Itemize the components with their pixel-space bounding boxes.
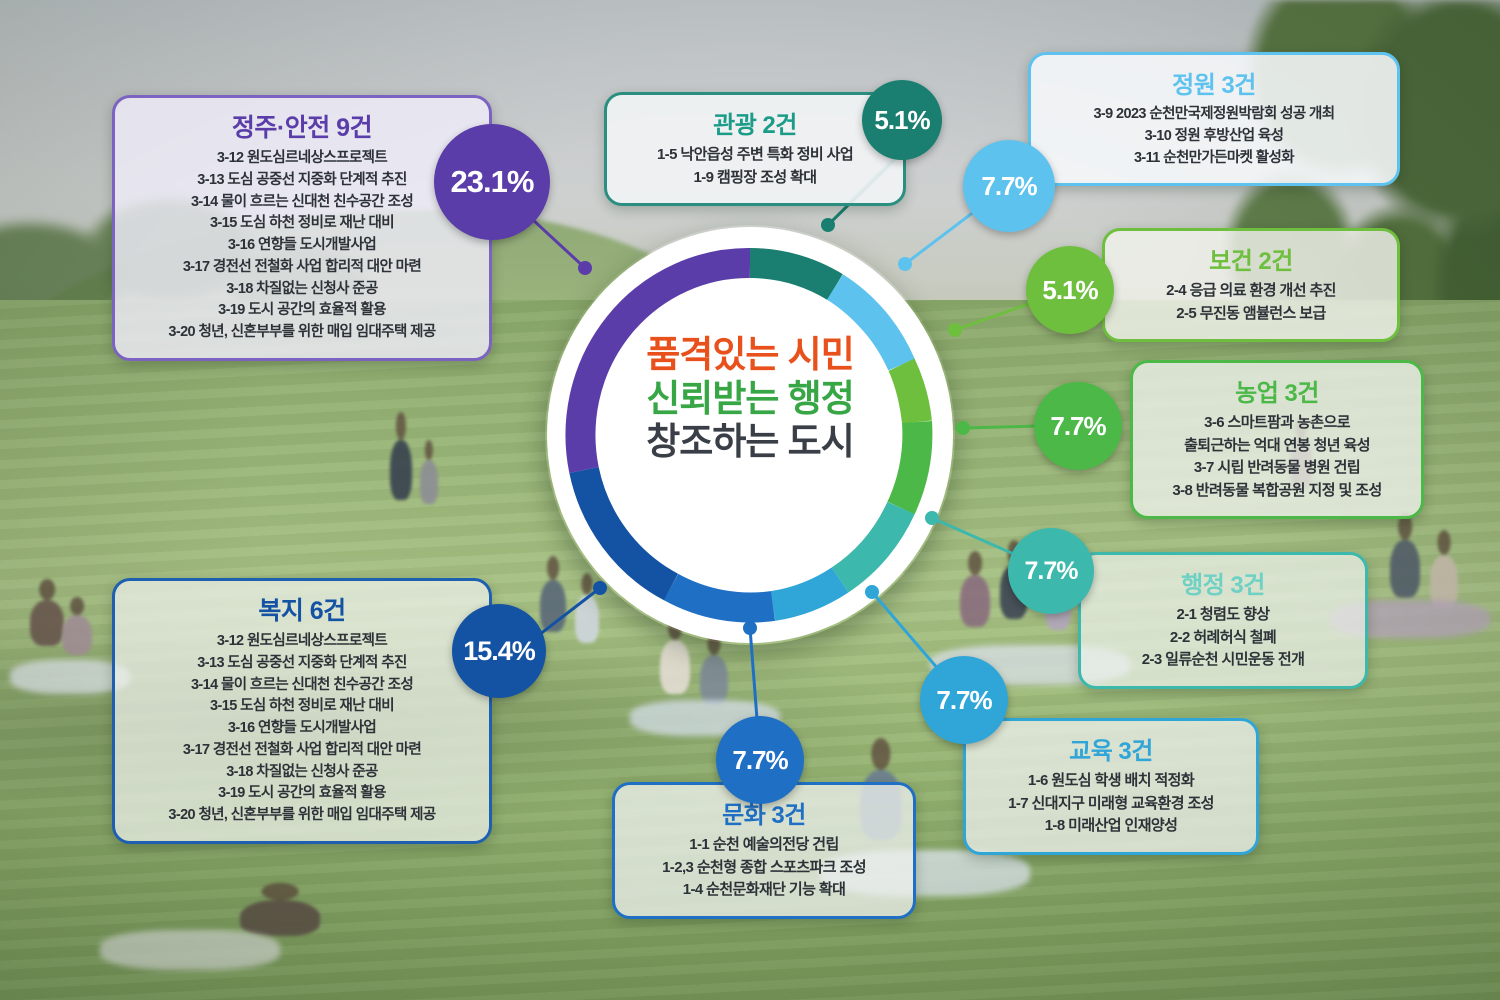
card-title-tourism: 관광 2건 [621, 105, 889, 140]
central-donut-chart: 품격있는 시민 신뢰받는 행정 창조하는 도시 S U N C H E O N … [545, 225, 955, 645]
card-item: 3-15 도심 하천 정비로 재난 대비 [129, 696, 475, 718]
percent-bubble-health[interactable]: 5.1% [1026, 246, 1114, 334]
card-garden[interactable]: 정원 3건 3-9 2023 순천만국제정원박람회 성공 개최 3-10 정원 … [1028, 52, 1400, 186]
card-item: 3-12 원도심르네상스프로젝트 [129, 148, 475, 170]
city-slogan: 품격있는 시민 신뢰받는 행정 창조하는 도시 [545, 333, 955, 464]
card-health[interactable]: 보건 2건 2-4 응급 의료 환경 개선 추진 2-5 무진동 앰뷸런스 보급 [1102, 228, 1400, 342]
slogan-line-2: 신뢰받는 행정 [545, 377, 955, 421]
card-item: 2-5 무진동 앰뷸런스 보급 [1119, 303, 1383, 326]
card-item: 3-12 원도심르네상스프로젝트 [129, 631, 475, 653]
card-item: 2-4 응급 의료 환경 개선 추진 [1119, 280, 1383, 303]
card-welfare[interactable]: 복지 6건 3-12 원도심르네상스프로젝트 3-13 도심 공중선 지중화 단… [112, 578, 492, 844]
card-item: 3-11 순천만가든마켓 활성화 [1045, 148, 1383, 170]
card-item: 2-1 청렴도 향상 [1095, 604, 1351, 627]
card-item: 3-13 도심 공중선 지중화 단계적 추진 [129, 170, 475, 192]
card-item: 3-18 차질없는 신청사 준공 [129, 279, 475, 301]
card-item: 3-17 경전선 전철화 사업 합리적 대안 마련 [129, 257, 475, 279]
card-title-agriculture: 농업 3건 [1147, 373, 1407, 408]
percent-bubble-agriculture[interactable]: 7.7% [1034, 382, 1122, 470]
card-item: 3-10 정원 후방산업 육성 [1045, 126, 1383, 148]
slogan-line-1: 품격있는 시민 [545, 333, 955, 377]
percent-bubble-residence-safety[interactable]: 23.1% [434, 124, 550, 240]
card-item: 3-15 도심 하천 정비로 재난 대비 [129, 213, 475, 235]
card-item: 3-6 스마트팜과 농촌으로 [1147, 412, 1407, 435]
card-item: 2-2 허례허식 철폐 [1095, 627, 1351, 650]
card-administration[interactable]: 행정 3건 2-1 청렴도 향상 2-2 허례허식 철폐 2-3 일류순천 시민… [1078, 552, 1368, 689]
card-item: 3-14 물이 흐르는 신대천 친수공간 조성 [129, 192, 475, 214]
card-item: 1-6 원도심 학생 배치 적정화 [980, 770, 1242, 793]
infographic-canvas: 품격있는 시민 신뢰받는 행정 창조하는 도시 S U N C H E O N … [0, 0, 1500, 1000]
card-item: 1-2,3 순천형 종합 스포츠파크 조성 [629, 857, 899, 880]
card-item: 3-7 시립 반려동물 병원 건립 [1147, 457, 1407, 480]
card-item: 3-18 차질없는 신청사 준공 [129, 762, 475, 784]
card-item: 3-9 2023 순천만국제정원박람회 성공 개최 [1045, 104, 1383, 126]
card-item: 2-3 일류순천 시민운동 전개 [1095, 649, 1351, 672]
card-item: 3-8 반려동물 복합공원 지정 및 조성 [1147, 480, 1407, 503]
card-title-administration: 행정 3건 [1095, 565, 1351, 600]
card-item: 3-16 연향들 도시개발사업 [129, 235, 475, 257]
card-title-garden: 정원 3건 [1045, 65, 1383, 100]
percent-bubble-tourism[interactable]: 5.1% [862, 80, 942, 160]
percent-bubble-welfare[interactable]: 15.4% [452, 604, 546, 698]
percent-bubble-administration[interactable]: 7.7% [1008, 528, 1094, 614]
card-item: 3-14 물이 흐르는 신대천 친수공간 조성 [129, 675, 475, 697]
card-item: 3-17 경전선 전철화 사업 합리적 대안 마련 [129, 740, 475, 762]
percent-bubble-garden[interactable]: 7.7% [963, 140, 1055, 232]
card-residence-safety[interactable]: 정주·안전 9건 3-12 원도심르네상스프로젝트 3-13 도심 공중선 지중… [112, 95, 492, 361]
card-education[interactable]: 교육 3건 1-6 원도심 학생 배치 적정화 1-7 신대지구 미래형 교육환… [963, 718, 1259, 855]
card-item: 1-1 순천 예술의전당 건립 [629, 834, 899, 857]
card-agriculture[interactable]: 농업 3건 3-6 스마트팜과 농촌으로 출퇴근하는 억대 연봉 청년 육성 3… [1130, 360, 1424, 519]
card-item: 3-13 도심 공중선 지중화 단계적 추진 [129, 653, 475, 675]
card-item: 출퇴근하는 억대 연봉 청년 육성 [1147, 435, 1407, 458]
percent-bubble-education[interactable]: 7.7% [920, 656, 1008, 744]
card-title-residence-safety: 정주·안전 9건 [129, 108, 475, 144]
card-title-health: 보건 2건 [1119, 241, 1383, 276]
card-title-welfare: 복지 6건 [129, 591, 475, 627]
card-item: 1-4 순천문화재단 기능 확대 [629, 879, 899, 902]
card-item: 3-19 도시 공간의 효율적 활용 [129, 300, 475, 322]
percent-bubble-culture[interactable]: 7.7% [716, 716, 804, 804]
card-item: 3-16 연향들 도시개발사업 [129, 718, 475, 740]
card-item: 3-20 청년, 신혼부부를 위한 매입 임대주택 제공 [129, 805, 475, 827]
card-item: 3-20 청년, 신혼부부를 위한 매입 임대주택 제공 [129, 322, 475, 344]
card-tourism[interactable]: 관광 2건 1-5 낙안읍성 주변 특화 정비 사업 1-9 캠핑장 조성 확대 [604, 92, 906, 206]
slogan-line-3: 창조하는 도시 [545, 420, 955, 464]
card-item: 1-8 미래산업 인재양성 [980, 815, 1242, 838]
card-item: 1-5 낙안읍성 주변 특화 정비 사업 [621, 144, 889, 167]
card-item: 3-19 도시 공간의 효율적 활용 [129, 783, 475, 805]
card-item: 1-9 캠핑장 조성 확대 [621, 167, 889, 190]
card-item: 1-7 신대지구 미래형 교육환경 조성 [980, 793, 1242, 816]
card-title-education: 교육 3건 [980, 731, 1242, 766]
